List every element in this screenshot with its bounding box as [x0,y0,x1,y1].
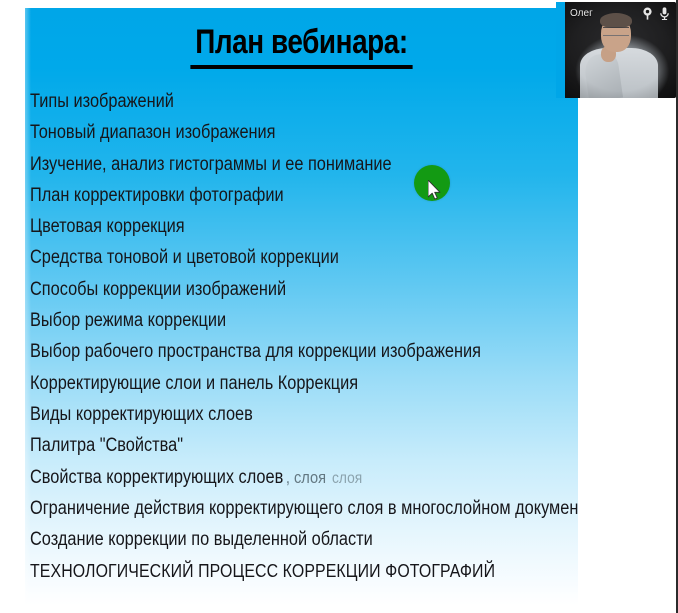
agenda-item-label: Виды корректирующих слоев [30,404,253,425]
agenda-item: Цветовая коррекция [30,211,501,242]
agenda-item-ghost-artifact-2: слоя [332,470,362,487]
agenda-item: Виды корректирующих слоев [30,399,501,430]
agenda-item: Ограничение действия корректирующего сло… [30,493,501,524]
agenda-item: Способы коррекции изображений [30,274,501,305]
agenda-item-label: Ограничение действия корректирующего сло… [30,498,578,519]
slide-title: План вебинара: [75,22,528,69]
agenda-item: Средства тоновой и цветовой коррекции [30,242,501,273]
agenda-item-label: Способы коррекции изображений [30,279,286,300]
webcam-participant-name: Олег [570,8,593,19]
pin-icon[interactable] [642,7,653,20]
agenda-item-label: Цветовая коррекция [30,216,185,237]
mouse-cursor-icon [428,180,442,200]
agenda-item-label: Средства тоновой и цветовой коррекции [30,247,339,268]
agenda-item-label: Выбор режима коррекции [30,310,226,331]
agenda-item-label: ТЕХНОЛОГИЧЕСКИЙ ПРОЦЕСС КОРРЕКЦИИ ФОТОГР… [30,560,495,581]
agenda-item-ghosted: Свойства корректирующих слоев, слояслоя [30,462,501,493]
agenda-item-label: Тоновый диапазон изображения [30,122,276,143]
agenda-item-label: Изучение, анализ гистограммы и ее понима… [30,154,392,175]
agenda-item: Создание коррекции по выделенной области [30,524,501,555]
agenda-item-label: Создание коррекции по выделенной области [30,529,373,550]
slide-edge-behind-webcam [556,2,565,98]
webcam-status-icons [642,7,669,20]
agenda-item-label: Свойства корректирующих слоев [30,467,283,488]
agenda-item: Тоновый диапазон изображения [30,117,501,148]
agenda-item-label: Корректирующие слои и панель Коррекция [30,373,358,394]
agenda-item: Выбор режима коррекции [30,305,501,336]
webcam-pip-overlay[interactable]: Олег [564,2,676,98]
presentation-slide[interactable]: План вебинара: Типы изображений Тоновый … [25,8,578,605]
agenda-item: Типы изображений [30,86,501,117]
agenda-item-ghost-artifact: , слоя [286,468,326,487]
agenda-item: Корректирующие слои и панель Коррекция [30,368,501,399]
agenda-item-label: План корректировки фотографии [30,185,284,206]
agenda-item-label: Выбор рабочего пространства для коррекци… [30,341,481,362]
agenda-list: Типы изображений Тоновый диапазон изобра… [30,86,578,587]
screen-share-frame: План вебинара: Типы изображений Тоновый … [0,0,678,613]
agenda-item: Палитра "Свойства" [30,430,501,461]
microphone-icon[interactable] [660,7,669,20]
agenda-item-label: Палитра "Свойства" [30,435,183,456]
agenda-item: Выбор рабочего пространства для коррекци… [30,336,501,367]
slide-title-text: План вебинара: [190,22,412,69]
agenda-item: ТЕХНОЛОГИЧЕСКИЙ ПРОЦЕСС КОРРЕКЦИИ ФОТОГР… [30,555,501,586]
agenda-item-label: Типы изображений [30,91,174,112]
